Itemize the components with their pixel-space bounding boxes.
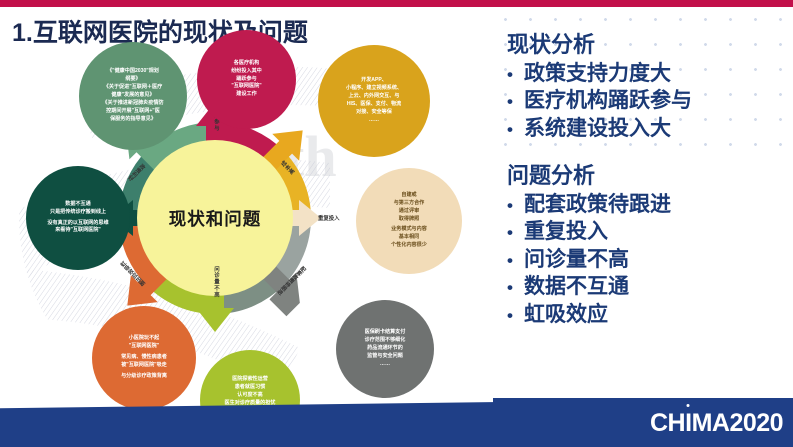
- bubble-participation: 各医疗机构 纷纷投入其中 踊跃参与 "互联网医院" 建设工作: [197, 30, 296, 129]
- chima-logo: CHIMA2020: [650, 409, 783, 438]
- section-heading-problems: 问题分析: [507, 162, 793, 190]
- list-item: •医疗机构踊跃参与: [507, 87, 793, 115]
- list-item: •虹吸效应: [507, 301, 793, 329]
- bubble-no-data-interop: 数据不互通 只是把传统诊疗搬到线上 没有真正的以互联网的思维 来看待"互联网医院…: [26, 166, 130, 270]
- list-item: •政策支持力度大: [507, 60, 793, 88]
- list-item-label: 重复投入: [524, 218, 608, 246]
- list-item-label: 政策支持力度大: [524, 60, 671, 88]
- bullet-icon: •: [507, 119, 524, 141]
- hub-label: 现状和问题: [169, 206, 262, 231]
- top-accent-bar: [0, 0, 793, 7]
- logo-part-year: 2020: [729, 409, 783, 437]
- list-item-label: 虹吸效应: [524, 301, 608, 329]
- bullet-icon: •: [507, 277, 524, 299]
- bubble-cost-text: 开发APP、 小程序、建立视频系统、 上云、内外网交互、与 HIS、医保、支付、…: [340, 77, 408, 124]
- list-item: •问诊量不高: [507, 246, 793, 274]
- bullet-icon: •: [507, 305, 524, 327]
- bubble-policy-gap: 医保刷卡结算支付 诊疗范围不够细化 药品流通环节的 监管与安全问题 ……: [336, 300, 434, 398]
- bubble-duplicate-investment-text: 自建或 与第三方合作 通过评审 取得牌照 业务模式与内容 基本相同 个性化内容很…: [385, 192, 433, 250]
- list-item-label: 医疗机构踊跃参与: [524, 87, 692, 115]
- spoke-label-duplicate: 重复投入: [318, 214, 340, 222]
- list-item: •系统建设投入大: [507, 115, 793, 143]
- bubble-participation-text: 各医疗机构 纷纷投入其中 踊跃参与 "互联网医院" 建设工作: [225, 60, 268, 99]
- bubble-siphon: 小医院玩不起 "互联网医院" 常见病、慢性病患者 被"互联网医院"吸走 与分级诊…: [92, 306, 196, 410]
- radial-diagram: th: [0, 18, 497, 418]
- logo-part-ch: CH: [650, 409, 685, 437]
- bubble-no-data-interop-text: 数据不互通 只是把传统诊疗搬到线上 没有真正的以互联网的思维 来看待"互联网医院…: [41, 201, 114, 236]
- problem-list: •配套政策待跟进 •重复投入 •问诊量不高 •数据不互通 •虹吸效应: [507, 191, 793, 329]
- bullet-icon: •: [507, 222, 524, 244]
- bubble-policy-support-text: 《"健康中国2030"规划 纲要》 《关于促进"互联网＋医疗 健康"发展的意见》…: [96, 68, 169, 123]
- spoke-label-lowvisit: 问诊量不高: [212, 266, 220, 298]
- slide-root: 1.互联网医院的现状及问题 th: [0, 0, 793, 447]
- bubble-policy-support: 《"健康中国2030"规划 纲要》 《关于促进"互联网＋医疗 健康"发展的意见》…: [79, 42, 187, 150]
- bullet-icon: •: [507, 91, 524, 113]
- list-item-label: 系统建设投入大: [524, 115, 671, 143]
- bottom-left-blue-band: [0, 402, 500, 447]
- bullet-icon: •: [507, 64, 524, 86]
- bullet-icon: •: [507, 250, 524, 272]
- list-item: •重复投入: [507, 218, 793, 246]
- logo-part-i: I: [685, 409, 691, 438]
- list-item-label: 问诊量不高: [524, 246, 629, 274]
- list-item-label: 数据不互通: [524, 273, 629, 301]
- list-item: •数据不互通: [507, 273, 793, 301]
- list-item-label: 配套政策待跟进: [524, 191, 671, 219]
- right-text-panel: 现状分析 •政策支持力度大 •医疗机构踊跃参与 •系统建设投入大 问题分析 •配…: [493, 7, 793, 447]
- bubble-policy-gap-text: 医保刷卡结算支付 诊疗范围不够细化 药品流通环节的 监管与安全问题 ……: [359, 329, 412, 368]
- bullet-icon: •: [507, 195, 524, 217]
- bubble-cost: 开发APP、 小程序、建立视频系统、 上云、内外网交互、与 HIS、医保、支付、…: [318, 45, 430, 157]
- section-heading-current-status: 现状分析: [507, 31, 793, 59]
- bubble-duplicate-investment: 自建或 与第三方合作 通过评审 取得牌照 业务模式与内容 基本相同 个性化内容很…: [356, 168, 462, 274]
- status-list: •政策支持力度大 •医疗机构踊跃参与 •系统建设投入大: [507, 60, 793, 143]
- bubble-siphon-text: 小医院玩不起 "互联网医院" 常见病、慢性病患者 被"互联网医院"吸走 与分级诊…: [115, 335, 173, 380]
- logo-part-ma: MA: [692, 409, 730, 437]
- list-item: •配套政策待跟进: [507, 191, 793, 219]
